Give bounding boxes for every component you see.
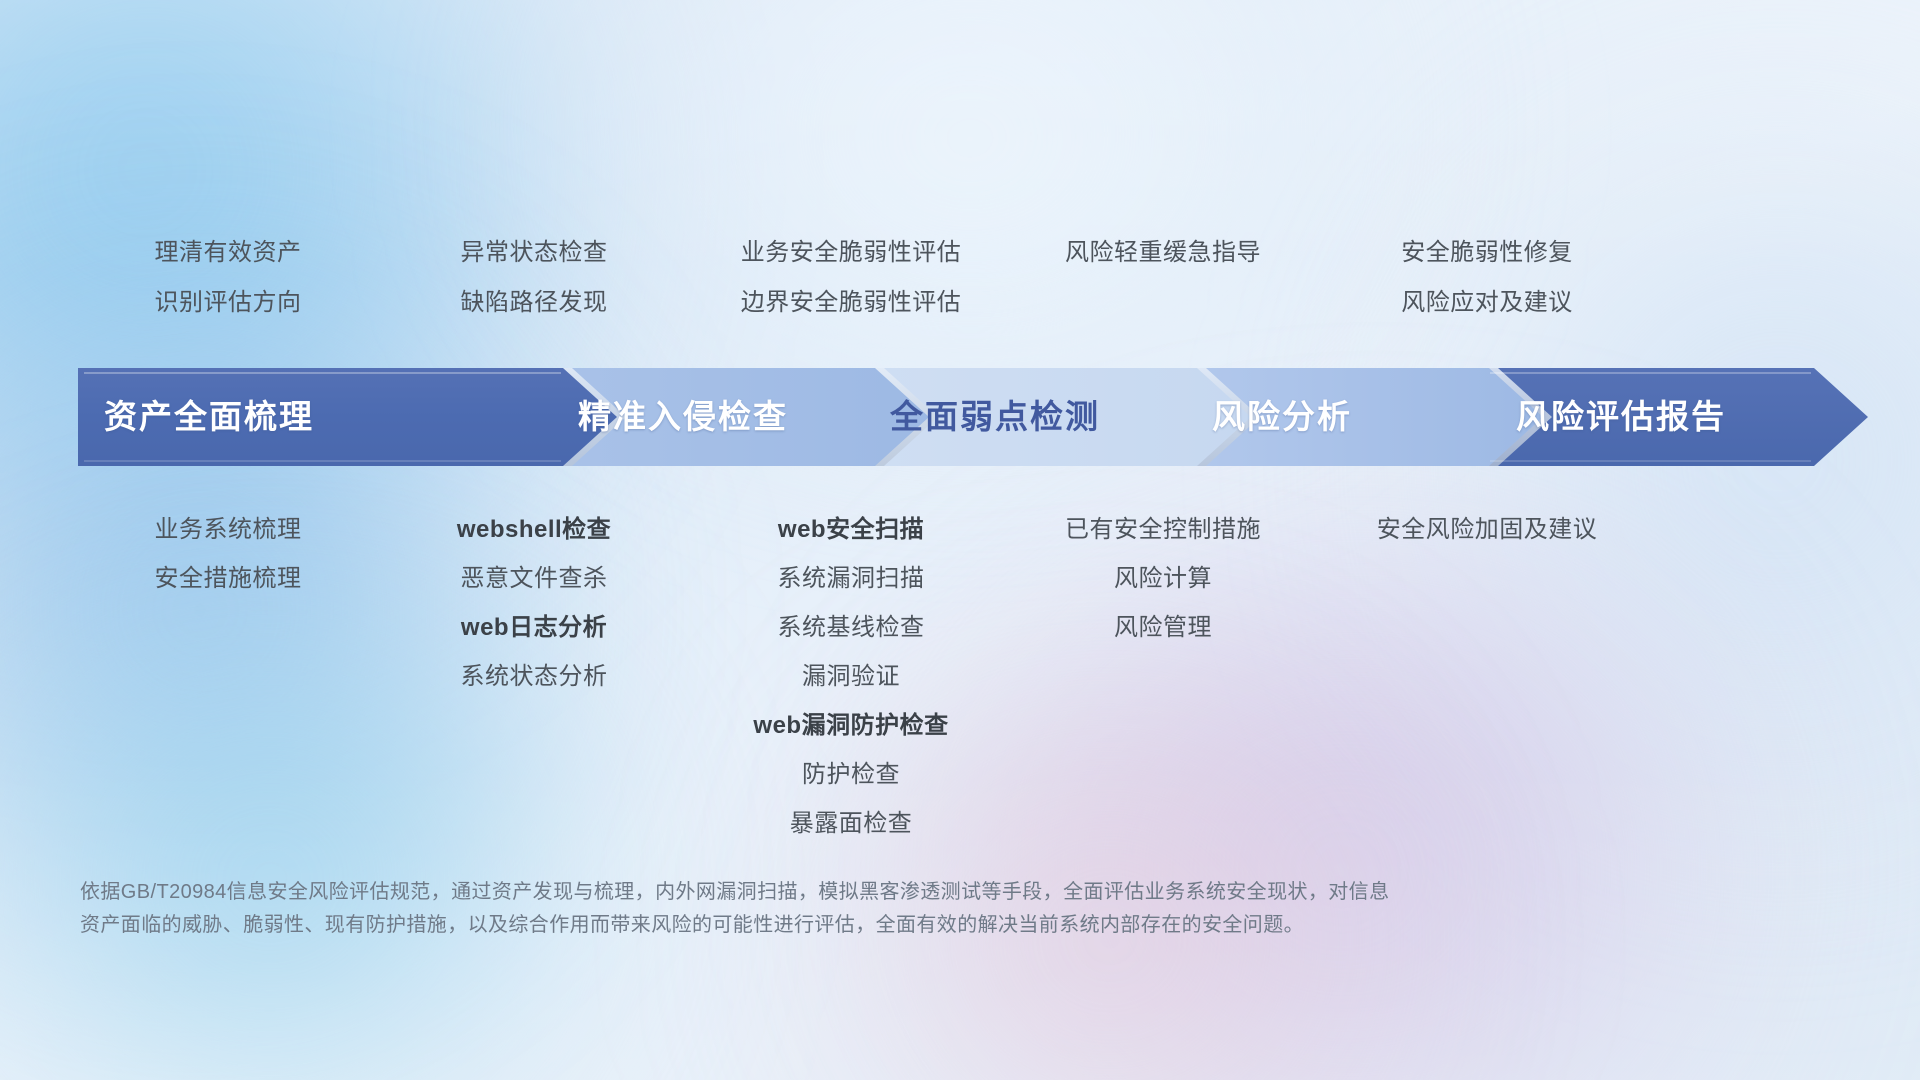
detail-item: 系统基线检查 [690, 603, 1012, 652]
detail-item: 漏洞验证 [690, 652, 1012, 701]
detail-item: 系统状态分析 [378, 652, 690, 701]
slide-canvas: 理清有效资产 识别评估方向 异常状态检查 缺陷路径发现 业务安全脆弱性评估 边界… [0, 0, 1920, 1080]
detail-item: web安全扫描 [690, 505, 1012, 554]
detail-item: 安全风险加固及建议 [1314, 505, 1660, 554]
footer-description: 依据GB/T20984信息安全风险评估规范，通过资产发现与梳理，内外网漏洞扫描，… [80, 876, 1580, 942]
detail-item: 安全措施梳理 [78, 554, 378, 603]
process-arrow-band: 资产全面梳理 精准入侵检查 全面弱点检测 风险分析 风险评估报告 [78, 368, 1868, 466]
top-item: 风险轻重缓急指导 [1012, 228, 1314, 278]
top-column-step-2: 异常状态检查 缺陷路径发现 [378, 228, 690, 328]
top-column-step-1: 理清有效资产 识别评估方向 [78, 228, 378, 328]
detail-item: web日志分析 [378, 603, 690, 652]
detail-item: webshell检查 [378, 505, 690, 554]
bottom-column-step-3: web安全扫描 系统漏洞扫描 系统基线检查 漏洞验证 web漏洞防护检查 防护检… [690, 505, 1012, 848]
detail-item: 恶意文件查杀 [378, 554, 690, 603]
top-item: 业务安全脆弱性评估 [690, 228, 1012, 278]
detail-item: 业务系统梳理 [78, 505, 378, 554]
arrow-segment-1 [78, 368, 626, 466]
bottom-details-row: 业务系统梳理 安全措施梳理 webshell检查 恶意文件查杀 web日志分析 … [78, 505, 1868, 848]
detail-item: 暴露面检查 [690, 799, 1012, 848]
bottom-column-step-1: 业务系统梳理 安全措施梳理 [78, 505, 378, 603]
bottom-column-step-2: webshell检查 恶意文件查杀 web日志分析 系统状态分析 [378, 505, 690, 701]
top-item: 缺陷路径发现 [378, 278, 690, 328]
top-descriptions-row: 理清有效资产 识别评估方向 异常状态检查 缺陷路径发现 业务安全脆弱性评估 边界… [78, 228, 1868, 328]
top-item: 安全脆弱性修复 [1314, 228, 1660, 278]
top-column-step-5: 安全脆弱性修复 风险应对及建议 [1314, 228, 1660, 328]
diagram-content: 理清有效资产 识别评估方向 异常状态检查 缺陷路径发现 业务安全脆弱性评估 边界… [0, 0, 1920, 1080]
detail-item: 风险计算 [1012, 554, 1314, 603]
top-item: 识别评估方向 [78, 278, 378, 328]
top-item: 风险应对及建议 [1314, 278, 1660, 328]
detail-item: web漏洞防护检查 [690, 701, 1012, 750]
detail-item: 系统漏洞扫描 [690, 554, 1012, 603]
footer-line-1: 依据GB/T20984信息安全风险评估规范，通过资产发现与梳理，内外网漏洞扫描，… [80, 876, 1580, 909]
top-item: 异常状态检查 [378, 228, 690, 278]
bottom-column-step-5: 安全风险加固及建议 [1314, 505, 1660, 554]
top-item: 边界安全脆弱性评估 [690, 278, 1012, 328]
detail-item: 已有安全控制措施 [1012, 505, 1314, 554]
top-column-step-3: 业务安全脆弱性评估 边界安全脆弱性评估 [690, 228, 1012, 328]
detail-item: 防护检查 [690, 750, 1012, 799]
top-item: 理清有效资产 [78, 228, 378, 278]
top-column-step-4: 风险轻重缓急指导 [1012, 228, 1314, 328]
bottom-column-step-4: 已有安全控制措施 风险计算 风险管理 [1012, 505, 1314, 652]
detail-item: 风险管理 [1012, 603, 1314, 652]
footer-line-2: 资产面临的威胁、脆弱性、现有防护措施，以及综合作用而带来风险的可能性进行评估，全… [80, 909, 1580, 942]
